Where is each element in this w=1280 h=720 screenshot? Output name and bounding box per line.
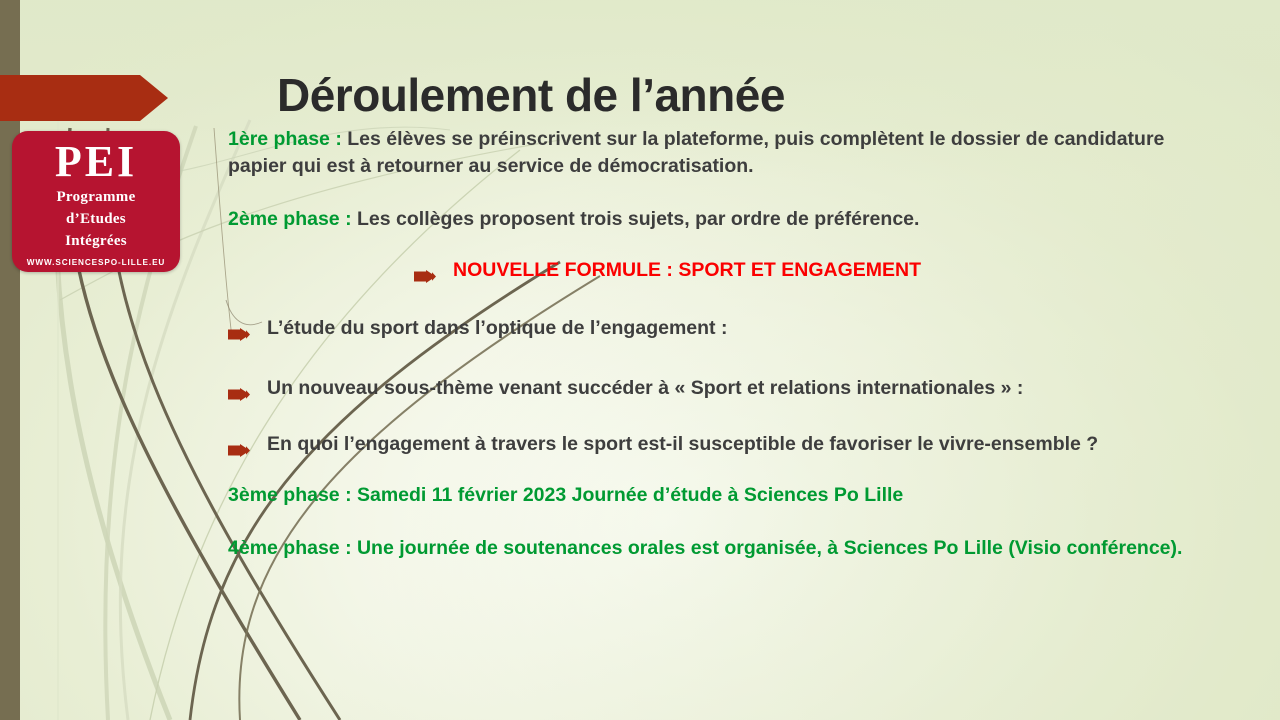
phase-1-separator: :	[330, 128, 347, 150]
phase-1-text: Les élèves se préinscrivent sur la plate…	[228, 128, 1164, 177]
bullet-item-2: Un nouveau sous-thème venant succéder à …	[228, 375, 1218, 409]
spacer	[228, 409, 1218, 431]
spacer	[228, 180, 1218, 206]
phase-2-separator: :	[340, 208, 357, 230]
bullet-item-3: En quoi l’engagement à travers le sport …	[228, 431, 1218, 465]
spacer	[228, 509, 1218, 535]
arrow-bullet-icon	[228, 438, 250, 465]
bullet-item-2-text: Un nouveau sous-thème venant succéder à …	[267, 375, 1218, 402]
slide-canvas: PEI Programme d’Etudes Intégrées WWW.SCI…	[0, 0, 1280, 720]
page-title: Déroulement de l’année	[277, 68, 785, 122]
spacer	[228, 464, 1218, 482]
spacer	[228, 289, 1218, 315]
bullet-item-1: L’étude du sport dans l’optique de l’eng…	[228, 315, 1218, 349]
logo-line-1: Programme	[12, 189, 180, 206]
phase-3-paragraph: 3ème phase : Samedi 11 février 2023 Jour…	[228, 482, 1218, 509]
phase-4-paragraph: 4ème phase : Une journée de soutenances …	[228, 535, 1218, 562]
arrow-bullet-icon	[228, 322, 250, 349]
logo-line-2: d’Etudes	[12, 211, 180, 228]
logo-acronym: PEI	[12, 140, 180, 184]
phase-2-text: Les collèges proposent trois sujets, par…	[357, 208, 919, 230]
highlight-new-formula: NOUVELLE FORMULE : SPORT ET ENGAGEMENT	[414, 259, 1218, 289]
logo-url: WWW.SCIENCESPO-LILLE.EU	[12, 258, 180, 267]
highlight-text: NOUVELLE FORMULE : SPORT ET ENGAGEMENT	[453, 259, 921, 282]
bullet-item-3-text: En quoi l’engagement à travers le sport …	[267, 431, 1218, 458]
phase-1-paragraph: 1ère phase : Les élèves se préinscrivent…	[228, 126, 1218, 180]
pei-logo: PEI Programme d’Etudes Intégrées WWW.SCI…	[12, 131, 180, 272]
arrow-bullet-icon	[228, 382, 250, 409]
bullet-item-1-text: L’étude du sport dans l’optique de l’eng…	[267, 315, 1218, 342]
phase-2-label: 2ème phase	[228, 208, 340, 230]
phase-2-paragraph: 2ème phase : Les collèges proposent troi…	[228, 206, 1218, 233]
spacer	[228, 233, 1218, 259]
phase-1-label: 1ère phase	[228, 128, 330, 150]
slide-body: 1ère phase : Les élèves se préinscrivent…	[228, 126, 1218, 562]
logo-line-3: Intégrées	[12, 233, 180, 250]
red-arrow-banner	[0, 75, 168, 121]
arrow-bullet-icon	[414, 266, 436, 289]
spacer	[228, 349, 1218, 375]
